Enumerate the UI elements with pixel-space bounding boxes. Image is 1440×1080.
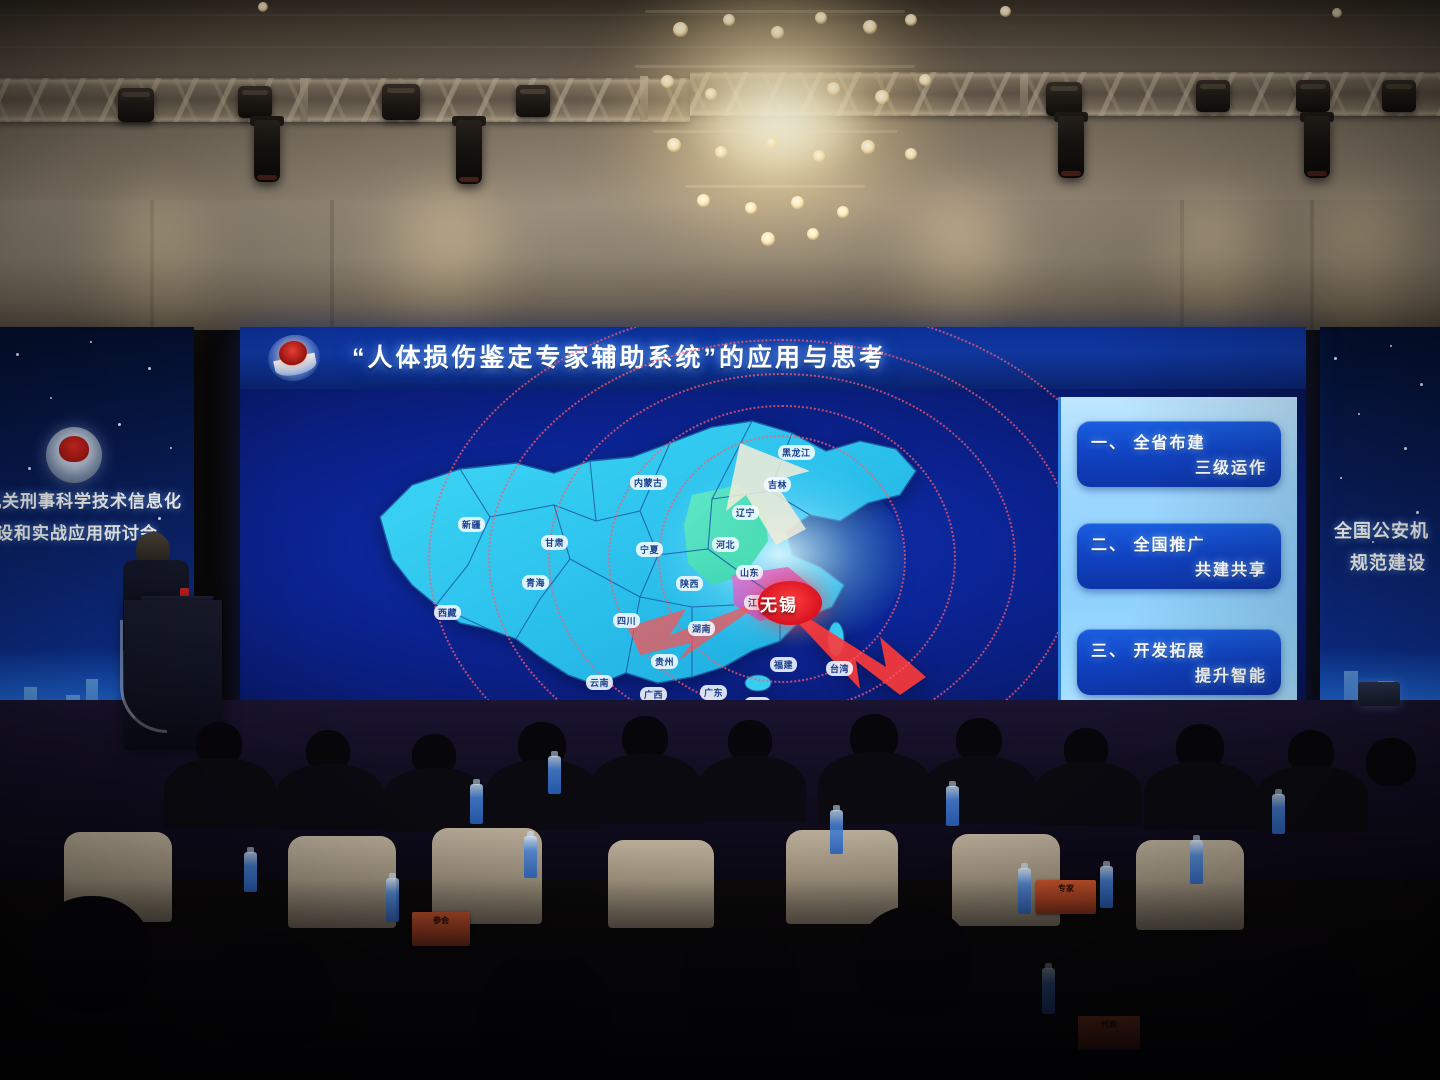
right-screen-title-line2: 规范建设 xyxy=(1350,549,1426,575)
audience-head xyxy=(1366,738,1416,786)
province-label: 宁夏 xyxy=(636,542,663,557)
agenda-item-1-line2: 三级运作 xyxy=(1195,454,1267,478)
agenda-item-3[interactable]: 三、 开发拓展 提升智能 xyxy=(1077,629,1281,695)
wuxi-label: 无锡 xyxy=(760,591,798,616)
stage-light xyxy=(1196,80,1230,112)
moving-head-light xyxy=(254,120,280,182)
moving-head-light xyxy=(456,120,482,184)
province-label: 内蒙古 xyxy=(630,475,667,490)
stage-light xyxy=(516,85,550,117)
smartphone xyxy=(1358,682,1400,706)
water-bottle xyxy=(470,784,483,824)
stage-light xyxy=(1382,80,1416,112)
province-label: 山东 xyxy=(736,565,763,580)
water-bottle xyxy=(830,810,843,854)
province-label: 福建 xyxy=(770,657,797,672)
agenda-panel: 一、 全省布建 三级运作 二、 全国推广 共建共享 三、 开发拓展 提升智能 xyxy=(1058,397,1297,731)
police-badge-icon xyxy=(46,427,102,483)
police-badge-icon xyxy=(264,330,324,386)
right-screen-title-line1: 全国公安机 xyxy=(1334,517,1429,543)
province-label: 台湾 xyxy=(826,661,853,676)
province-label: 陕西 xyxy=(676,576,703,591)
province-label: 黑龙江 xyxy=(778,445,815,460)
audience-shoulders xyxy=(698,756,806,822)
agenda-item-2-line2: 共建共享 xyxy=(1195,556,1267,580)
water-bottle xyxy=(548,756,561,794)
province-label: 甘肃 xyxy=(541,535,568,550)
agenda-item-1[interactable]: 一、 全省布建 三级运作 xyxy=(1077,421,1281,487)
moving-head-light xyxy=(1058,116,1084,178)
agenda-item-2-line1: 二、 全国推广 xyxy=(1091,531,1205,555)
agenda-item-1-line1: 一、 全省布建 xyxy=(1091,429,1205,453)
crystal-chandelier xyxy=(575,0,975,270)
province-label: 广东 xyxy=(700,685,727,700)
stage-light xyxy=(1296,80,1330,112)
water-bottle xyxy=(524,836,537,878)
china-map: 新疆 甘肃 青海 西藏 四川 宁夏 陕西 贵州 云南 黑龙江 吉林 辽宁 内蒙古… xyxy=(340,399,1000,729)
audience-shoulders xyxy=(924,756,1036,824)
agenda-item-2[interactable]: 二、 全国推广 共建共享 xyxy=(1077,523,1281,589)
water-bottle xyxy=(1272,794,1285,834)
slide-body: 新疆 甘肃 青海 西藏 四川 宁夏 陕西 贵州 云南 黑龙江 吉林 辽宁 内蒙古… xyxy=(240,389,1306,739)
province-label: 河北 xyxy=(712,537,739,552)
province-label: 云南 xyxy=(586,675,613,690)
left-screen-title-line1: 机关刑事科学技术信息化 xyxy=(0,487,182,512)
agenda-item-3-line1: 三、 开发拓展 xyxy=(1091,637,1205,661)
moving-head-light xyxy=(1304,116,1330,178)
audience-shoulders xyxy=(1034,762,1142,826)
province-label: 青海 xyxy=(522,575,549,590)
audience-shoulders xyxy=(276,764,384,830)
radiation-ring xyxy=(428,327,1136,739)
audience-shoulders xyxy=(164,758,276,828)
agenda-item-3-line2: 提升智能 xyxy=(1195,662,1267,686)
audience-shoulders xyxy=(590,754,702,824)
province-label: 贵州 xyxy=(651,654,678,669)
province-label: 辽宁 xyxy=(732,505,759,520)
audience-shoulders xyxy=(486,760,600,830)
stage-light xyxy=(382,84,420,120)
foreground-shadow xyxy=(0,880,1440,1080)
wall-panel xyxy=(330,200,334,330)
province-label: 吉林 xyxy=(764,477,791,492)
stage-light xyxy=(1046,82,1082,116)
right-led-screen: 全国公安机 规范建设 xyxy=(1320,327,1440,739)
audience-shoulders xyxy=(1144,762,1258,830)
province-label: 四川 xyxy=(613,613,640,628)
left-screen-title-line2: 建设和实战应用研讨会 xyxy=(0,519,158,544)
province-label: 新疆 xyxy=(458,517,485,532)
stage-light xyxy=(118,88,154,122)
conference-photo: 机关刑事科学技术信息化 机关刑事科学技术信息化 建设和实战应用研讨会 全国公安机… xyxy=(0,0,1440,1080)
province-label: 湖南 xyxy=(688,621,715,636)
water-bottle xyxy=(946,786,959,826)
stage-light xyxy=(238,86,272,118)
water-bottle xyxy=(1190,840,1203,884)
province-label: 西藏 xyxy=(434,605,461,620)
main-led-screen: “人体损伤鉴定专家辅助系统”的应用与思考 xyxy=(240,327,1306,739)
